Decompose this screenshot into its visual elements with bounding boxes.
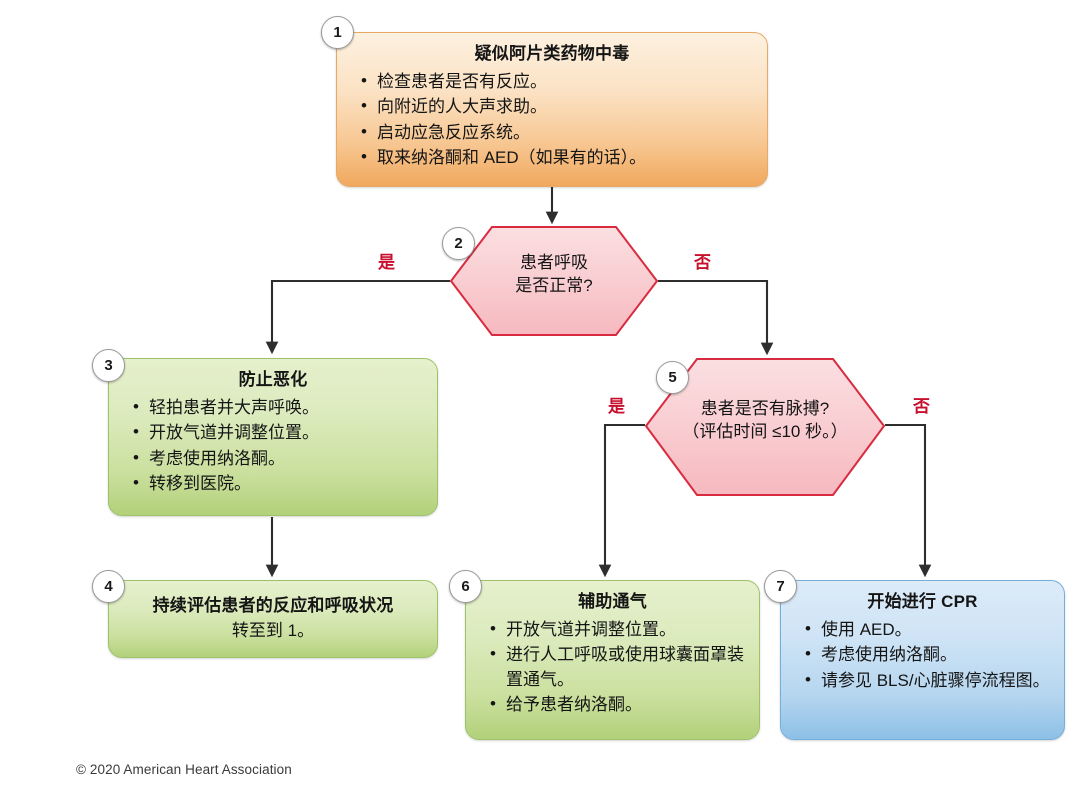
node-1-title: 疑似阿片类药物中毒 <box>351 43 753 64</box>
node-3-title: 防止恶化 <box>123 369 423 390</box>
edge-5-no-to-7 <box>885 425 925 575</box>
node-3-bullet: 考虑使用纳洛酮。 <box>129 447 423 471</box>
badge-node-1: 1 <box>321 16 354 49</box>
node-5-line2: （评估时间 ≤10 秒。） <box>645 421 885 444</box>
node-2-line2: 是否正常? <box>450 275 658 298</box>
badge-node-2: 2 <box>442 227 475 260</box>
node-2-breathing-decision[interactable]: 患者呼吸 是否正常? <box>450 226 658 336</box>
edge-2-yes-to-3 <box>272 281 450 352</box>
node-7-title: 开始进行 CPR <box>795 591 1050 612</box>
branch-label-2-no: 否 <box>694 248 711 273</box>
node-1-bullet: 取来纳洛酮和 AED（如果有的话）。 <box>357 146 753 170</box>
node-7-bullet: 请参见 BLS/心脏骤停流程图。 <box>801 669 1050 693</box>
badge-node-6: 6 <box>449 570 482 603</box>
node-7-start-cpr[interactable]: 开始进行 CPR 使用 AED。 考虑使用纳洛酮。 请参见 BLS/心脏骤停流程… <box>780 580 1065 740</box>
node-1-suspected-opioid-poisoning[interactable]: 疑似阿片类药物中毒 检查患者是否有反应。 向附近的人大声求助。 启动应急反应系统… <box>336 32 768 187</box>
node-1-bullet: 检查患者是否有反应。 <box>357 70 753 94</box>
branch-label-5-yes: 是 <box>608 392 625 417</box>
node-4-title: 持续评估患者的反应和呼吸状况 <box>123 595 423 616</box>
node-1-bullet-list: 检查患者是否有反应。 向附近的人大声求助。 启动应急反应系统。 取来纳洛酮和 A… <box>351 70 753 171</box>
node-6-assisted-ventilation[interactable]: 辅助通气 开放气道并调整位置。 进行人工呼吸或使用球囊面罩装置通气。 给予患者纳… <box>465 580 760 740</box>
node-4-subtitle: 转至到 1。 <box>123 620 423 643</box>
node-6-bullet-list: 开放气道并调整位置。 进行人工呼吸或使用球囊面罩装置通气。 给予患者纳洛酮。 <box>480 618 745 718</box>
badge-node-4: 4 <box>92 570 125 603</box>
edge-2-no-to-5 <box>658 281 767 353</box>
node-3-bullet: 轻拍患者并大声呼唤。 <box>129 396 423 420</box>
flowchart-canvas: 疑似阿片类药物中毒 检查患者是否有反应。 向附近的人大声求助。 启动应急反应系统… <box>0 0 1080 800</box>
node-6-bullet: 开放气道并调整位置。 <box>486 618 745 642</box>
node-3-prevent-deterioration[interactable]: 防止恶化 轻拍患者并大声呼唤。 开放气道并调整位置。 考虑使用纳洛酮。 转移到医… <box>108 358 438 516</box>
node-5-line1: 患者是否有脉搏? <box>645 398 885 421</box>
node-6-bullet: 进行人工呼吸或使用球囊面罩装置通气。 <box>486 643 745 691</box>
branch-label-2-yes: 是 <box>378 248 395 273</box>
badge-node-7: 7 <box>764 570 797 603</box>
badge-node-3: 3 <box>92 349 125 382</box>
edge-5-yes-to-6 <box>605 425 645 575</box>
node-1-bullet: 向附近的人大声求助。 <box>357 95 753 119</box>
node-2-line1: 患者呼吸 <box>450 252 658 275</box>
node-7-bullet: 使用 AED。 <box>801 618 1050 642</box>
node-3-bullet-list: 轻拍患者并大声呼唤。 开放气道并调整位置。 考虑使用纳洛酮。 转移到医院。 <box>123 396 423 497</box>
node-7-bullet: 考虑使用纳洛酮。 <box>801 643 1050 667</box>
badge-node-5: 5 <box>656 361 689 394</box>
copyright-notice: © 2020 American Heart Association <box>76 762 292 777</box>
node-3-bullet: 开放气道并调整位置。 <box>129 421 423 445</box>
node-4-continuous-assessment[interactable]: 持续评估患者的反应和呼吸状况 转至到 1。 <box>108 580 438 658</box>
node-6-bullet: 给予患者纳洛酮。 <box>486 693 745 717</box>
node-1-bullet: 启动应急反应系统。 <box>357 121 753 145</box>
node-3-bullet: 转移到医院。 <box>129 472 423 496</box>
branch-label-5-no: 否 <box>913 392 930 417</box>
node-6-title: 辅助通气 <box>480 591 745 612</box>
node-7-bullet-list: 使用 AED。 考虑使用纳洛酮。 请参见 BLS/心脏骤停流程图。 <box>795 618 1050 693</box>
